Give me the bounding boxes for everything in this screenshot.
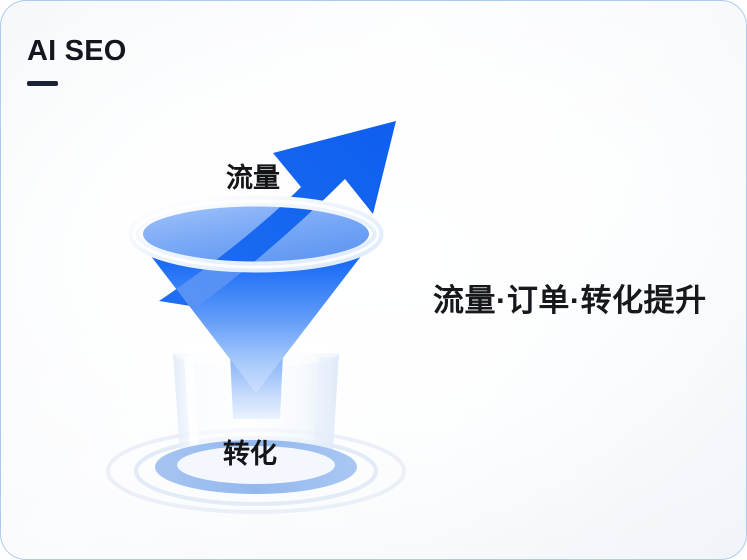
title-accent-dash bbox=[27, 81, 58, 86]
page-title: AI SEO bbox=[27, 37, 127, 66]
funnel-label-traffic: 流量 bbox=[226, 156, 280, 195]
funnel-label-conversion: 转化 bbox=[223, 432, 277, 471]
tagline-text: 流量·订单·转化提升 bbox=[433, 275, 707, 320]
page-title-block: AI SEO bbox=[27, 37, 127, 86]
slide-card: AI SEO bbox=[0, 0, 747, 560]
